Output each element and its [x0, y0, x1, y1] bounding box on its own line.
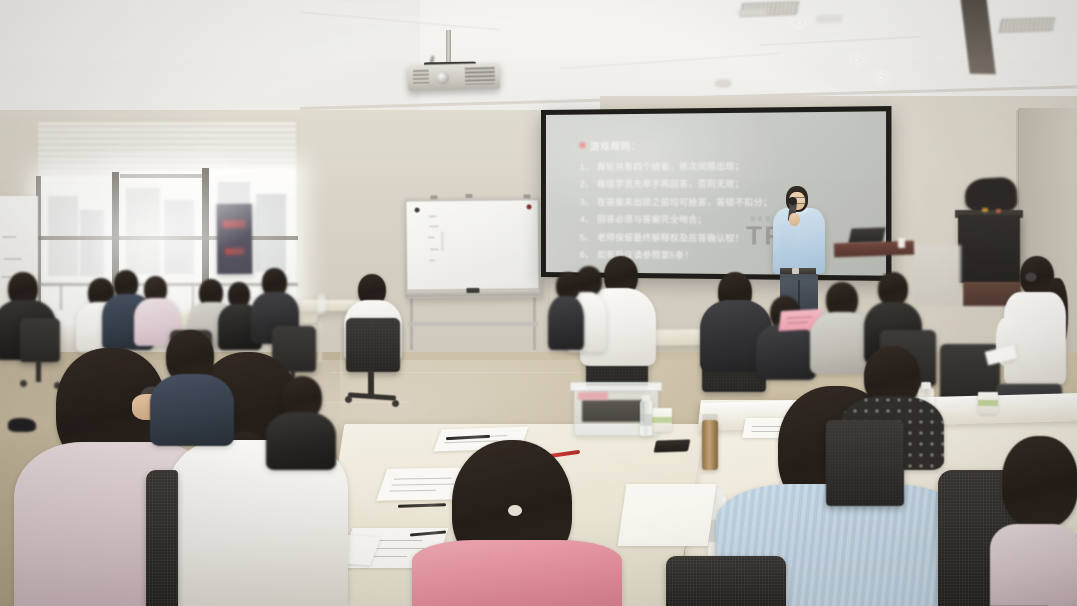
water-bottle	[640, 400, 652, 436]
paper-cup	[978, 392, 998, 414]
whiteboard-marking	[441, 231, 444, 251]
whiteboard-magnet	[527, 204, 532, 209]
window-rail	[36, 236, 298, 240]
name-card-text	[788, 322, 808, 324]
air-vent	[737, 8, 767, 16]
whiteboard-marking	[1, 276, 11, 278]
office-chair	[666, 556, 786, 606]
paper-text-line	[391, 484, 454, 486]
smoke-detector	[715, 79, 731, 86]
desk-item	[996, 209, 1001, 213]
projector-mount-pole	[446, 30, 451, 66]
water-bottle	[318, 294, 325, 314]
poster-glare	[217, 204, 253, 274]
chair-caster	[392, 400, 399, 407]
paper-text-line	[389, 490, 436, 492]
mobile-whiteboard	[403, 197, 541, 298]
torso	[756, 324, 816, 380]
wall-poster	[217, 204, 253, 274]
whiteboard-eraser	[466, 288, 479, 293]
paper-text-line	[394, 478, 453, 480]
bottle-label	[640, 414, 652, 426]
presenter-hand	[789, 213, 800, 226]
ceiling-spotlight	[852, 57, 861, 62]
whiteboard-marking	[428, 236, 435, 238]
ceiling-spotlight	[132, 6, 141, 11]
wall-panel	[913, 245, 961, 305]
whiteboard-marking	[429, 259, 435, 261]
bottle-cap	[921, 382, 931, 389]
whiteboard-clip	[465, 194, 472, 198]
chair-stem	[36, 360, 41, 382]
whiteboard-crossbar	[408, 322, 538, 326]
whiteboard-magnet	[415, 208, 420, 213]
ceiling-projector	[408, 63, 501, 91]
thermos	[702, 420, 718, 470]
whiteboard-marking	[4, 258, 22, 260]
crate-contents	[578, 392, 608, 400]
belt-buckle	[792, 268, 799, 274]
ceiling-spotlight	[795, 20, 804, 25]
torso	[412, 540, 622, 606]
whiteboard-stand	[408, 296, 538, 354]
chair-caster	[345, 396, 352, 403]
microphone-head	[788, 197, 797, 205]
crate-contents	[582, 400, 644, 422]
chair-caster	[20, 380, 27, 387]
torso	[266, 412, 336, 470]
whiteboard-marking	[429, 215, 437, 217]
whiteboard-marking	[2, 236, 16, 238]
glasses-icon	[1025, 272, 1037, 282]
building-view	[256, 194, 286, 272]
whiteboard-marking	[430, 248, 439, 250]
podium	[958, 215, 1020, 283]
chair-stem	[368, 370, 374, 396]
torso	[990, 524, 1077, 606]
name-card-text	[786, 316, 812, 318]
projector-vent	[413, 70, 429, 85]
handout-paper	[618, 484, 717, 546]
projector-lens	[436, 71, 449, 84]
cup-band	[652, 417, 672, 423]
building-view	[126, 188, 160, 274]
whiteboard-clip	[430, 195, 437, 199]
office-chair	[20, 318, 60, 362]
building-view	[80, 210, 104, 276]
paper-cup	[652, 408, 672, 432]
whiteboard-surface	[407, 200, 539, 289]
railing-post	[60, 284, 62, 310]
bottle-cap	[642, 395, 650, 401]
shoe	[8, 418, 36, 432]
air-vent	[999, 17, 1056, 33]
head	[1002, 436, 1077, 528]
air-vent	[816, 15, 842, 24]
hair-tie	[508, 505, 522, 516]
office-chair	[146, 470, 178, 606]
classroom-photo: 训练营 TR 游戏规则： 1、每轮共有四个线索，依次间隔出现； 2、每组学员先举…	[0, 0, 1077, 606]
projector-vent	[465, 67, 495, 85]
smartphone	[654, 439, 691, 452]
crate-lid	[570, 382, 662, 391]
paper-cup	[898, 238, 905, 248]
desk-item	[982, 208, 988, 212]
head	[878, 272, 908, 306]
whiteboard-clip	[523, 194, 530, 198]
cup-band	[978, 400, 998, 406]
window-rail	[120, 174, 202, 178]
ceiling-spotlight	[876, 75, 885, 80]
office-chair	[826, 420, 904, 506]
office-chair	[346, 318, 400, 372]
torso	[150, 374, 234, 446]
torso	[548, 296, 584, 350]
balcony-railing	[36, 283, 298, 286]
whiteboard-marking	[429, 225, 439, 227]
table-leg	[318, 322, 322, 362]
